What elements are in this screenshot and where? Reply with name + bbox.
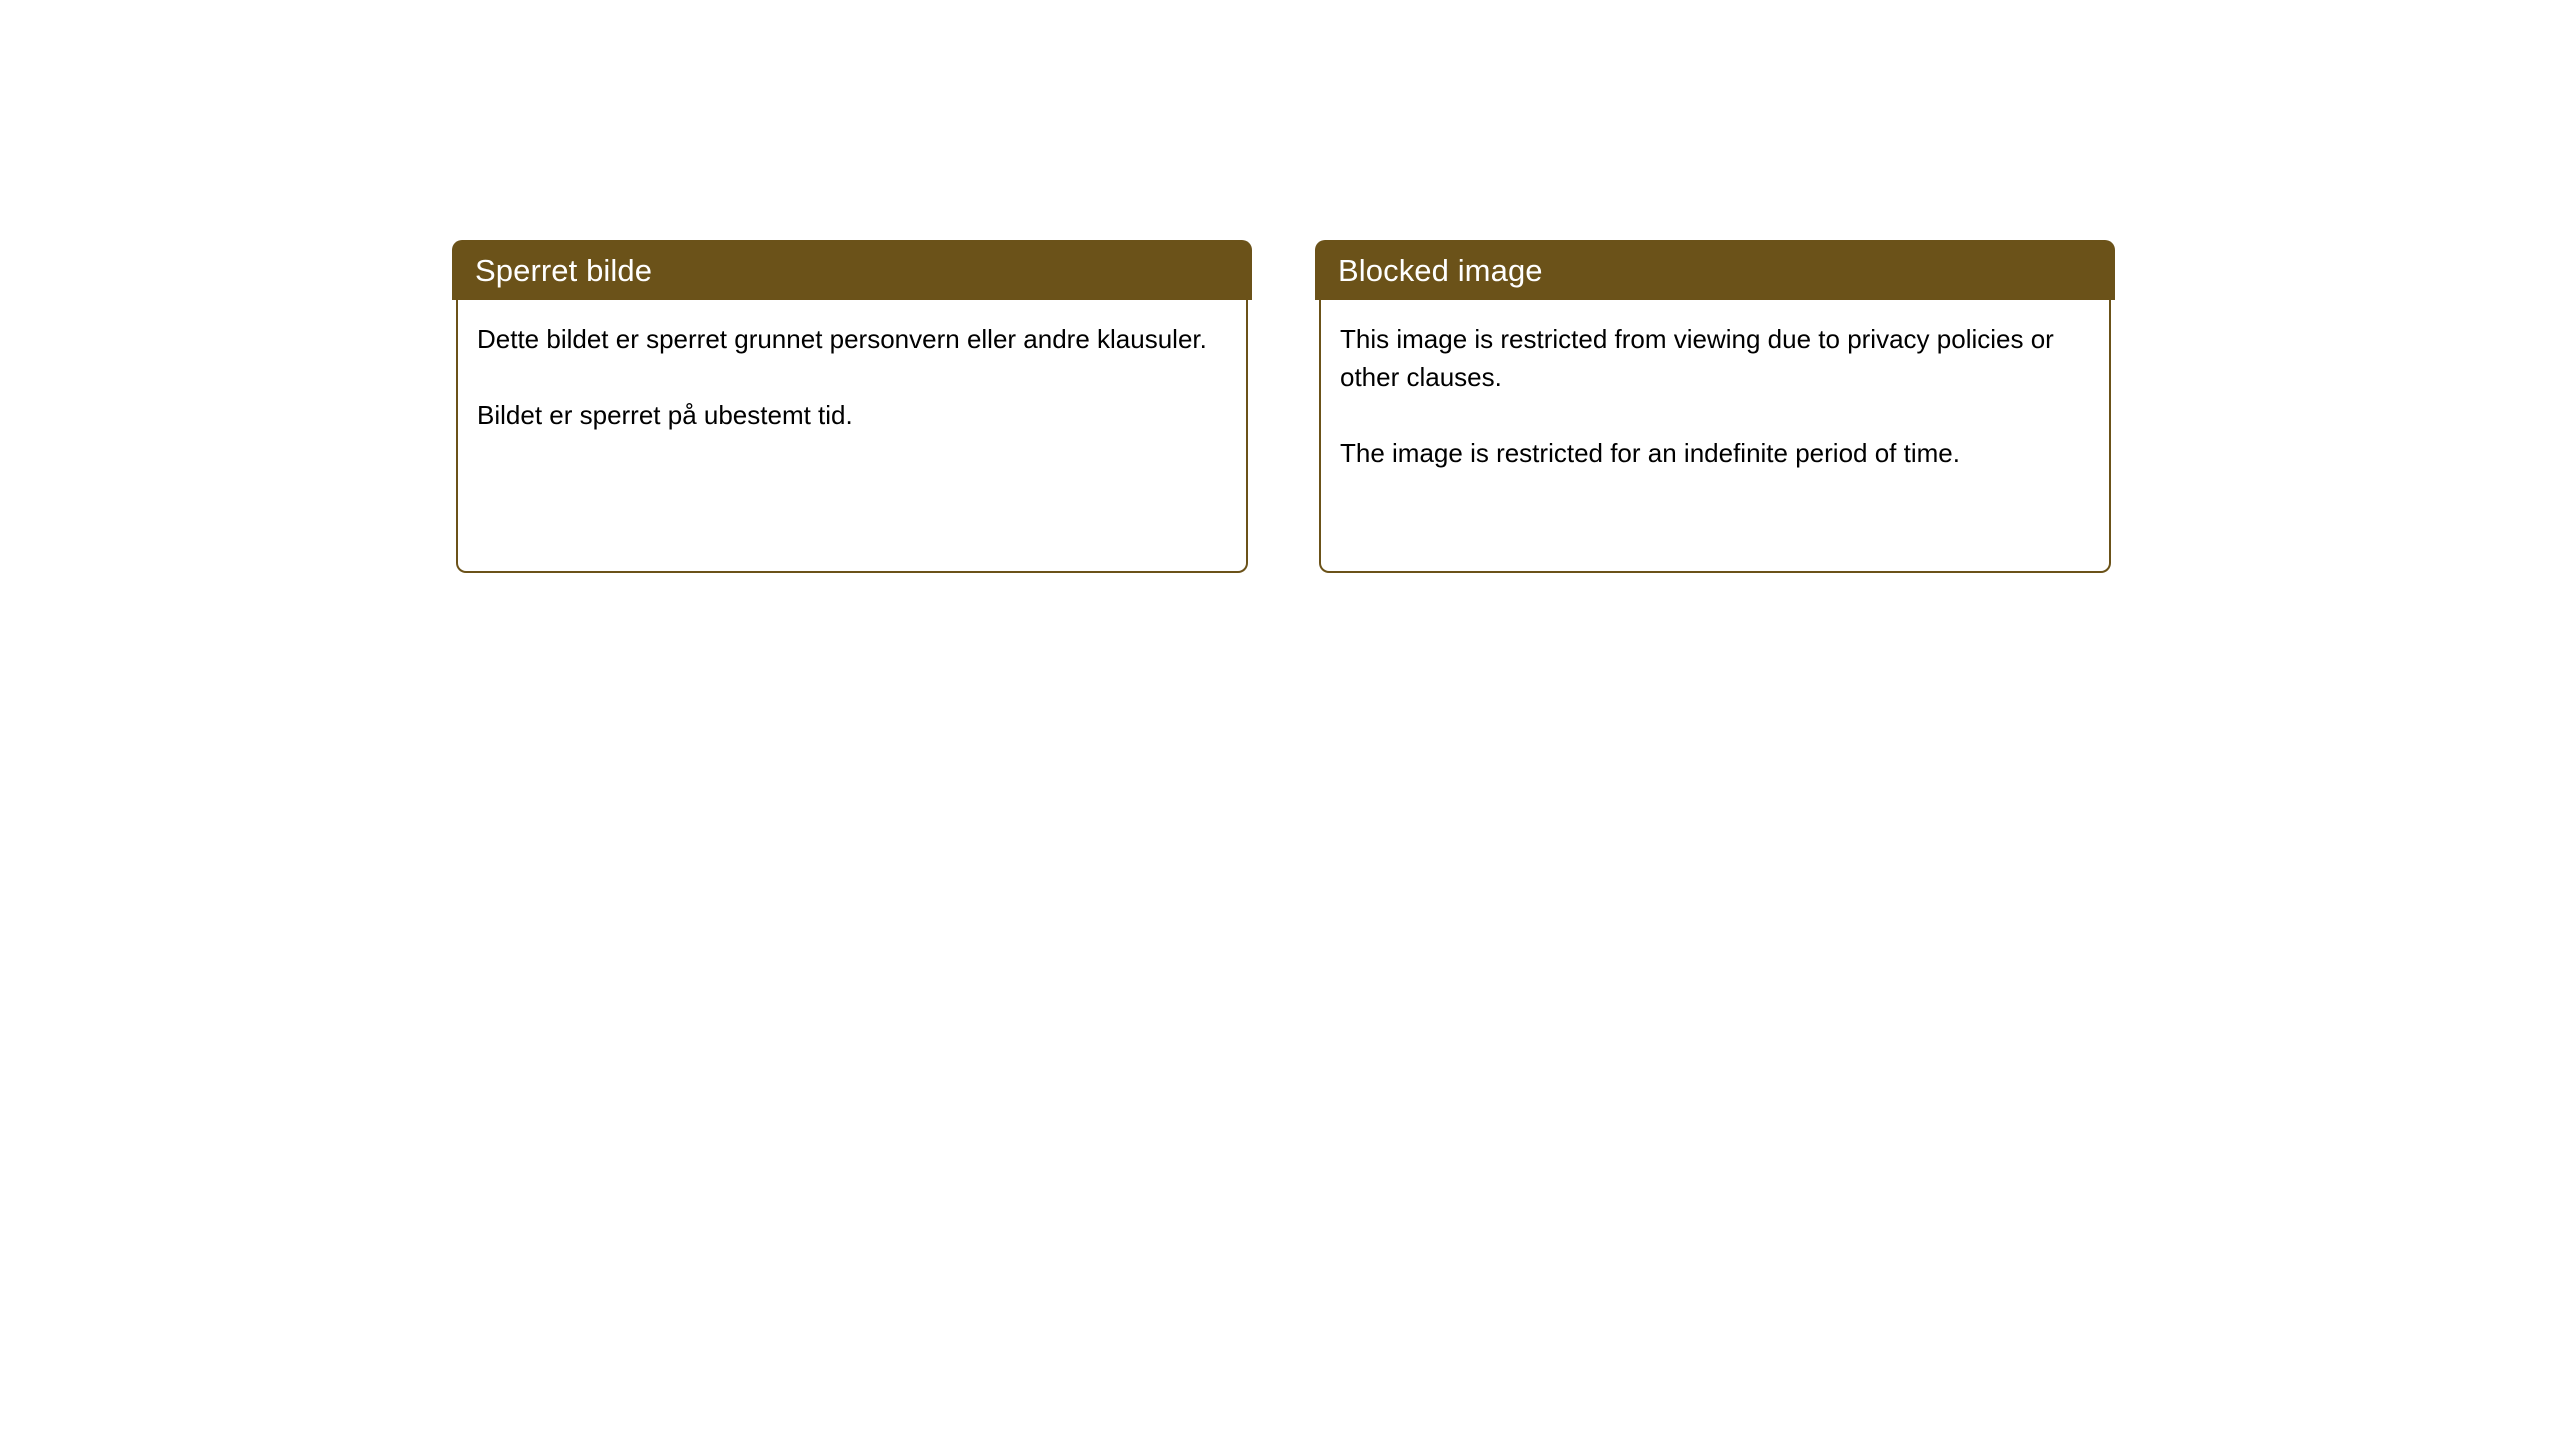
notice-title-no: Sperret bilde — [475, 255, 652, 286]
notice-title-en: Blocked image — [1338, 255, 1543, 286]
notice-body-no: Dette bildet er sperret grunnet personve… — [456, 300, 1248, 573]
notice-paragraph-duration-en: The image is restricted for an indefinit… — [1340, 434, 2091, 472]
notice-paragraph-reason-en: This image is restricted from viewing du… — [1340, 320, 2091, 396]
notice-header-no: Sperret bilde — [452, 240, 1252, 300]
blocked-image-notice-en: Blocked image This image is restricted f… — [1315, 240, 2115, 573]
notice-paragraph-reason-no: Dette bildet er sperret grunnet personve… — [477, 320, 1228, 358]
notice-header-en: Blocked image — [1315, 240, 2115, 300]
notice-body-en: This image is restricted from viewing du… — [1319, 300, 2111, 573]
blocked-image-notice-no: Sperret bilde Dette bildet er sperret gr… — [452, 240, 1252, 573]
notice-paragraph-duration-no: Bildet er sperret på ubestemt tid. — [477, 396, 1228, 434]
page-canvas: Sperret bilde Dette bildet er sperret gr… — [0, 0, 2560, 1440]
